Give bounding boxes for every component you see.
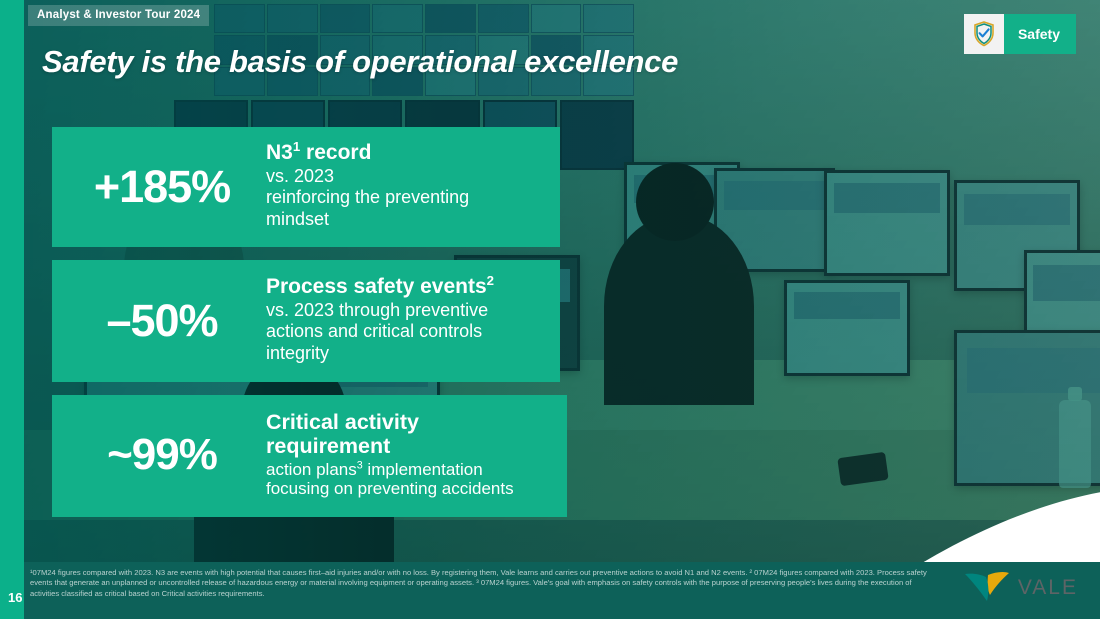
footnote-line: events that generate an unplanned or unc… — [30, 578, 980, 588]
stat-body-line: integrity — [266, 343, 542, 365]
footnote-line: ¹07M24 figures compared with 2023. N3 ar… — [30, 568, 980, 578]
stat-value: +185% — [62, 164, 262, 209]
stat-cards: +185% N31 record vs. 2023 reinforcing th… — [52, 127, 567, 530]
safety-badge-label: Safety — [1004, 14, 1076, 54]
stat-body-line: mindset — [266, 209, 542, 231]
footnotes: ¹07M24 figures compared with 2023. N3 ar… — [30, 568, 980, 599]
stat-body-line: vs. 2023 through preventive — [266, 300, 542, 322]
stat-body-suffix: implementation — [363, 460, 483, 479]
stat-body-line: action plans3 implementation — [266, 460, 549, 479]
stat-headline: Critical activity requirement — [266, 411, 549, 458]
vale-wordmark: VALE — [1018, 576, 1078, 600]
stat-headline: N31 record — [266, 141, 542, 165]
footnote-marker: 2 — [487, 273, 494, 288]
vale-logo: VALE — [964, 571, 1078, 605]
stat-headline: Process safety events2 — [266, 275, 542, 299]
stat-body-prefix: action plans — [266, 460, 357, 479]
safety-badge: Safety — [964, 14, 1076, 54]
stat-body-line: reinforcing the preventing — [266, 187, 542, 209]
stat-body: action plans3 implementation focusing on… — [266, 460, 549, 499]
left-accent-strip — [0, 0, 24, 619]
stat-value: ~99% — [62, 433, 262, 477]
stat-headline-tail: record — [300, 141, 371, 164]
stat-body: vs. 2023 reinforcing the preventing mind… — [266, 166, 542, 231]
stat-headline-text: Process safety events — [266, 275, 487, 298]
stat-value: –50% — [62, 298, 262, 343]
stat-body: vs. 2023 through preventive actions and … — [266, 300, 542, 365]
event-tag: Analyst & Investor Tour 2024 — [28, 5, 209, 26]
stat-info: Process safety events2 vs. 2023 through … — [262, 275, 542, 364]
stat-body-line: vs. 2023 — [266, 166, 542, 188]
stat-body-line: actions and critical controls — [266, 321, 542, 343]
stat-card-process-safety-events: –50% Process safety events2 vs. 2023 thr… — [52, 260, 560, 382]
slide-footer: 16 ¹07M24 figures compared with 2023. N3… — [0, 562, 1100, 619]
stat-card-critical-activity-requirement: ~99% Critical activity requirement actio… — [52, 395, 567, 517]
stat-card-n3-record: +185% N31 record vs. 2023 reinforcing th… — [52, 127, 560, 247]
shield-check-icon — [964, 14, 1004, 54]
stat-headline-text: N3 — [266, 141, 293, 164]
page-title: Safety is the basis of operational excel… — [42, 44, 678, 80]
page-number: 16 — [8, 590, 22, 605]
footnote-line: activities classified as critical based … — [30, 589, 980, 599]
stat-body-line: focusing on preventing accidents — [266, 479, 549, 498]
vale-v-icon — [964, 571, 1010, 605]
slide: Analyst & Investor Tour 2024 Safety Safe… — [0, 0, 1100, 619]
stat-info: Critical activity requirement action pla… — [262, 411, 549, 498]
stat-info: N31 record vs. 2023 reinforcing the prev… — [262, 141, 542, 230]
